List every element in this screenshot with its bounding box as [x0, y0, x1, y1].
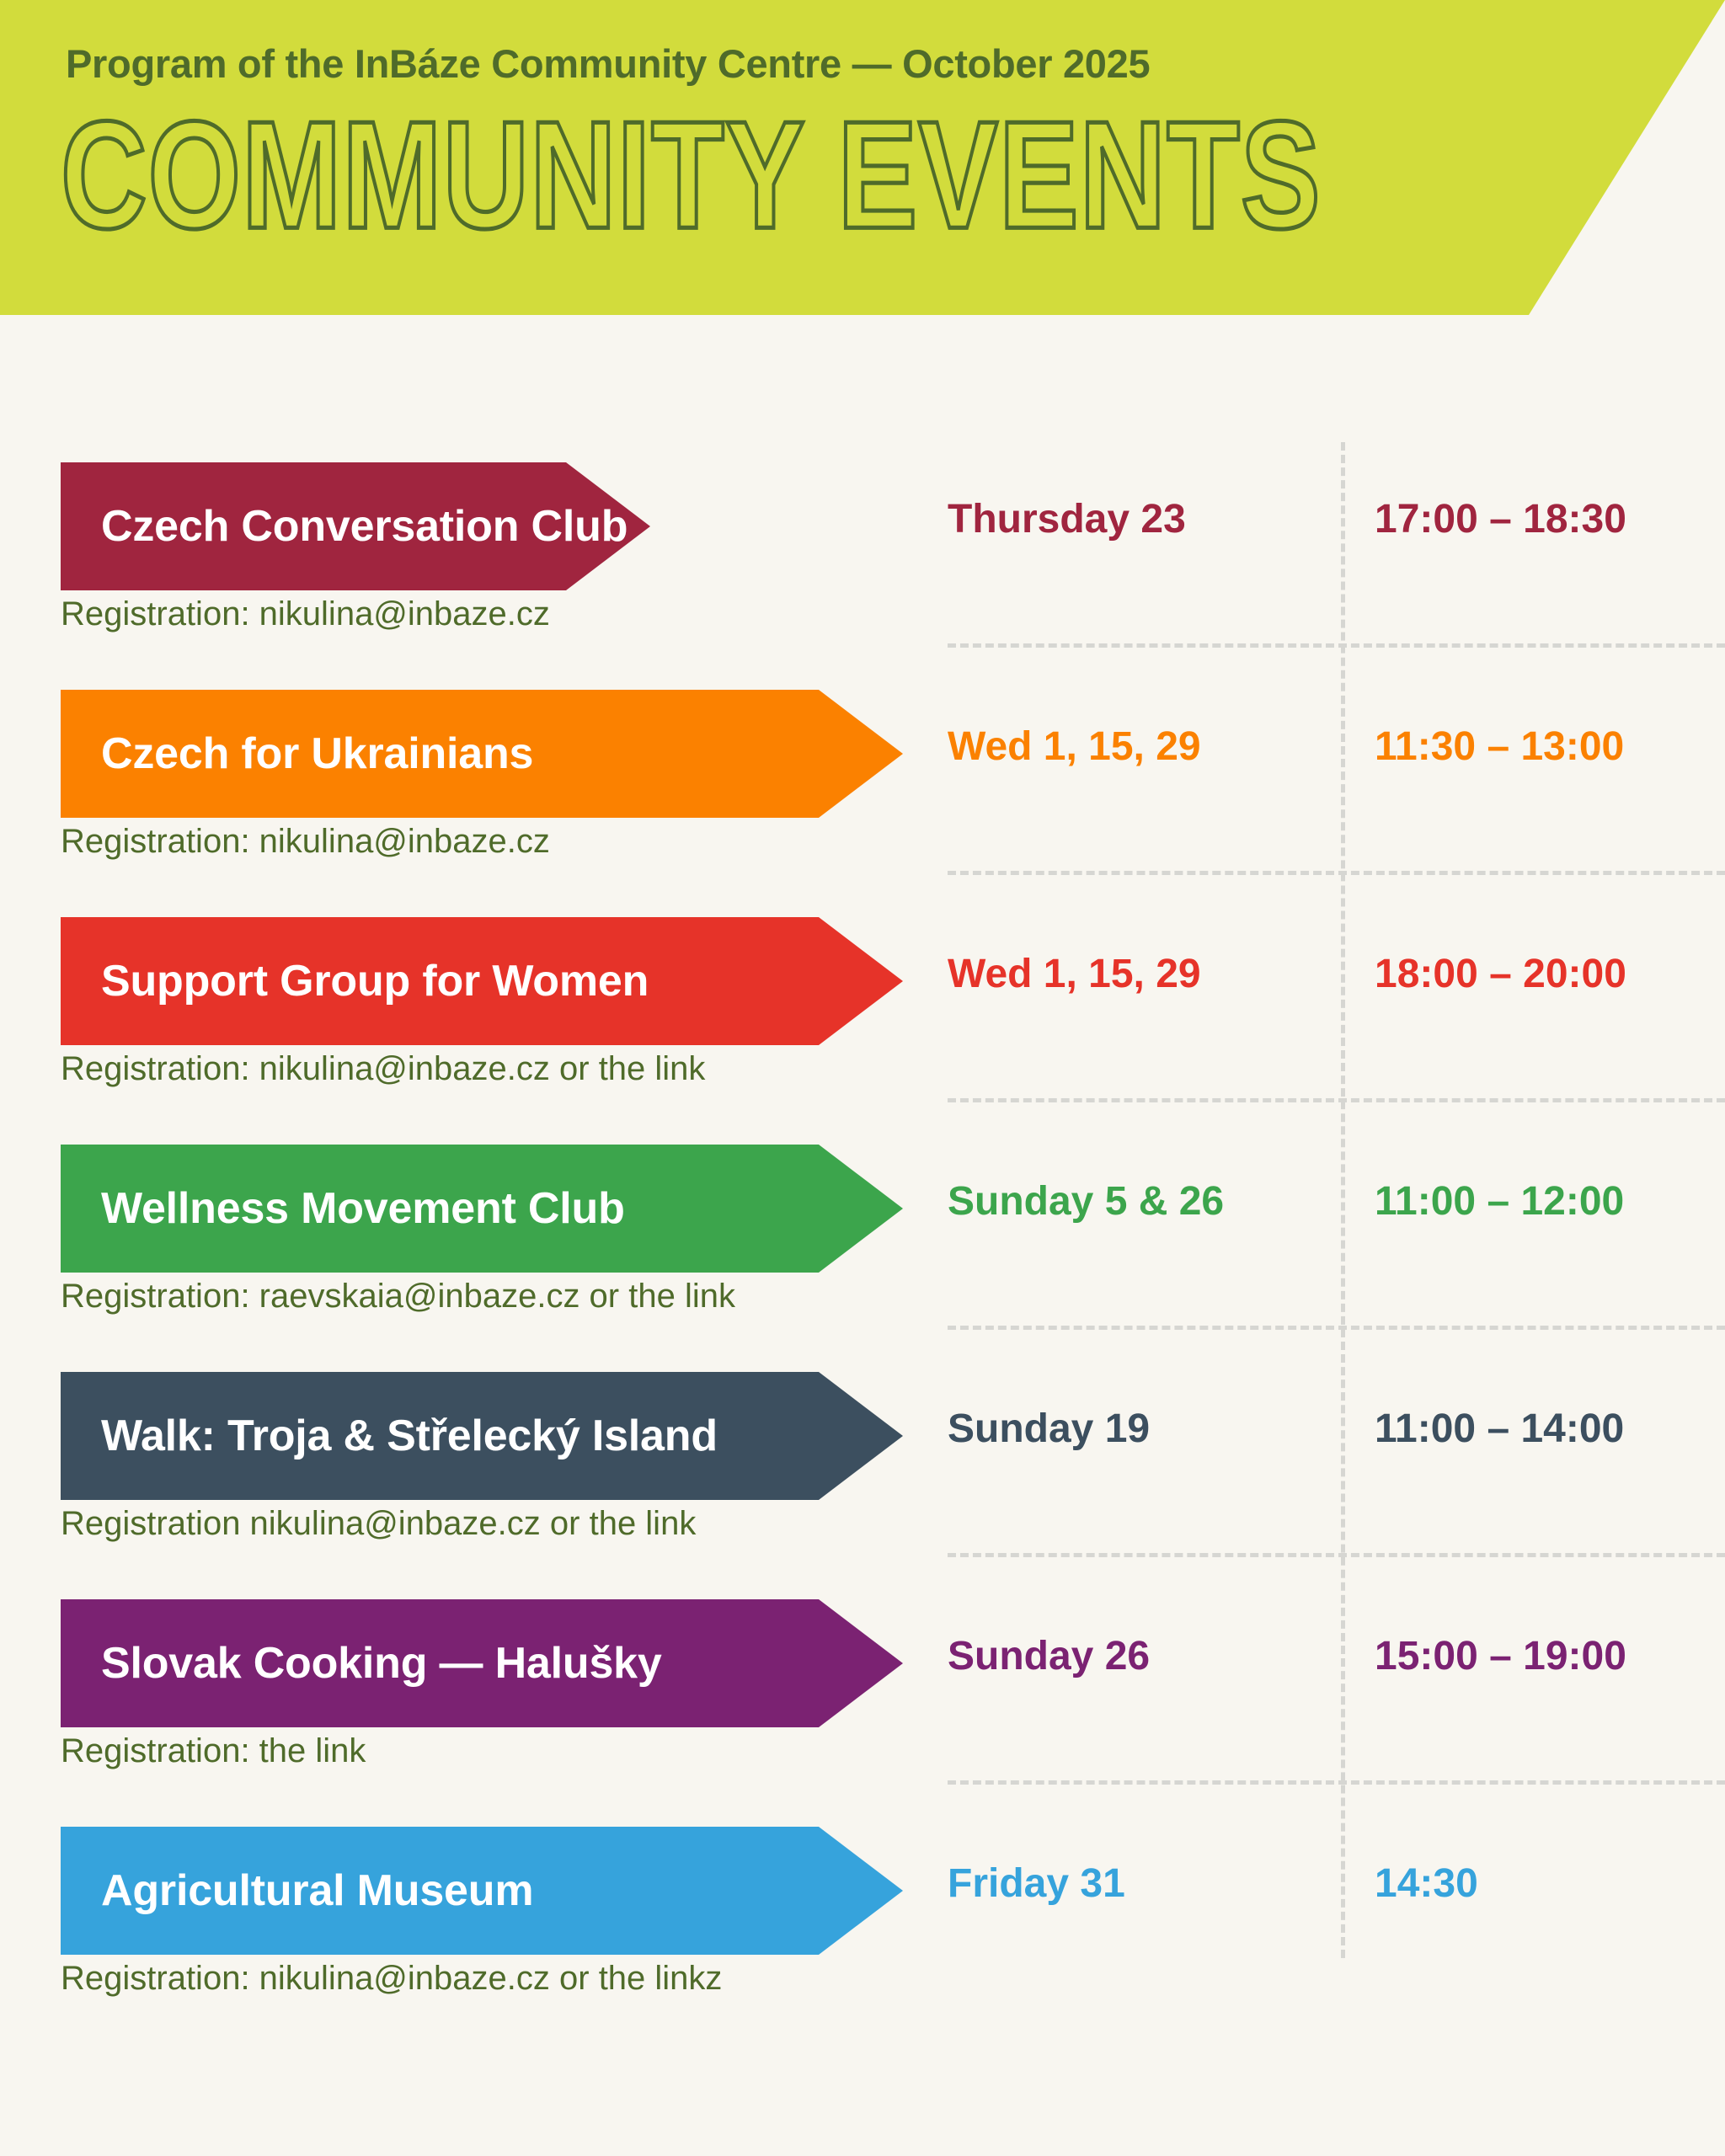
- row-separator: [948, 1780, 1725, 1785]
- row-separator: [948, 871, 1725, 875]
- event-time: 18:00 – 20:00: [1375, 951, 1626, 997]
- event-registration: Registration: nikulina@inbaze.cz: [61, 595, 550, 633]
- event-date: Wed 1, 15, 29: [948, 951, 1201, 997]
- header-kicker: Program of the InBáze Community Centre —…: [66, 40, 1150, 87]
- event-time: 14:30: [1375, 1860, 1478, 1907]
- event-time: 17:00 – 18:30: [1375, 496, 1626, 542]
- event-registration: Registration: nikulina@inbaze.cz: [61, 823, 550, 861]
- event-time: 11:00 – 12:00: [1375, 1178, 1624, 1225]
- event-registration: Registration: raevskaia@inbaze.cz or the…: [61, 1278, 735, 1315]
- event-registration: Registration: nikulina@inbaze.cz or the …: [61, 1960, 722, 1998]
- event-time: 15:00 – 19:00: [1375, 1633, 1626, 1679]
- event-row[interactable]: Czech for UkrainiansRegistration: nikuli…: [0, 690, 1725, 900]
- event-title: Wellness Movement Club: [101, 1183, 625, 1234]
- event-row[interactable]: Czech Conversation ClubRegistration: nik…: [0, 462, 1725, 673]
- event-row[interactable]: Agricultural MuseumRegistration: nikulin…: [0, 1827, 1725, 2037]
- event-title-banner[interactable]: Walk: Troja & Střelecký Island: [61, 1372, 903, 1500]
- row-separator: [948, 643, 1725, 648]
- event-date: Sunday 26: [948, 1633, 1150, 1679]
- event-row[interactable]: Support Group for WomenRegistration: nik…: [0, 917, 1725, 1128]
- row-separator: [948, 1553, 1725, 1557]
- event-title-banner[interactable]: Support Group for Women: [61, 917, 903, 1045]
- header-banner: Program of the InBáze Community Centre —…: [0, 0, 1725, 315]
- row-separator: [948, 1098, 1725, 1102]
- event-title: Walk: Troja & Střelecký Island: [101, 1411, 718, 1461]
- page-title: COMMUNITY EVENTS: [61, 99, 1322, 253]
- event-title-banner[interactable]: Czech for Ukrainians: [61, 690, 903, 818]
- event-title-banner[interactable]: Czech Conversation Club: [61, 462, 650, 590]
- event-date: Wed 1, 15, 29: [948, 723, 1201, 770]
- event-title: Czech Conversation Club: [101, 501, 628, 552]
- event-title: Support Group for Women: [101, 956, 649, 1006]
- event-title: Agricultural Museum: [101, 1865, 533, 1916]
- row-separator: [948, 1326, 1725, 1330]
- event-time: 11:00 – 14:00: [1375, 1406, 1624, 1452]
- event-registration: Registration nikulina@inbaze.cz or the l…: [61, 1505, 696, 1543]
- event-title-banner[interactable]: Wellness Movement Club: [61, 1145, 903, 1273]
- event-date: Sunday 5 & 26: [948, 1178, 1224, 1225]
- event-date: Thursday 23: [948, 496, 1186, 542]
- event-date: Sunday 19: [948, 1406, 1150, 1452]
- event-title: Czech for Ukrainians: [101, 728, 533, 779]
- event-row[interactable]: Slovak Cooking — HaluškyRegistration: th…: [0, 1599, 1725, 1810]
- event-time: 11:30 – 13:00: [1375, 723, 1624, 770]
- event-date: Friday 31: [948, 1860, 1125, 1907]
- event-title-banner[interactable]: Agricultural Museum: [61, 1827, 903, 1955]
- event-registration: Registration: nikulina@inbaze.cz or the …: [61, 1050, 705, 1088]
- poster-page: { "theme": { "background": "#F8F6F0", "h…: [0, 0, 1725, 2156]
- event-registration: Registration: the link: [61, 1732, 366, 1770]
- event-title: Slovak Cooking — Halušky: [101, 1638, 662, 1689]
- event-title-banner[interactable]: Slovak Cooking — Halušky: [61, 1599, 903, 1727]
- event-row[interactable]: Walk: Troja & Střelecký IslandRegistrati…: [0, 1372, 1725, 1582]
- event-row[interactable]: Wellness Movement ClubRegistration: raev…: [0, 1145, 1725, 1355]
